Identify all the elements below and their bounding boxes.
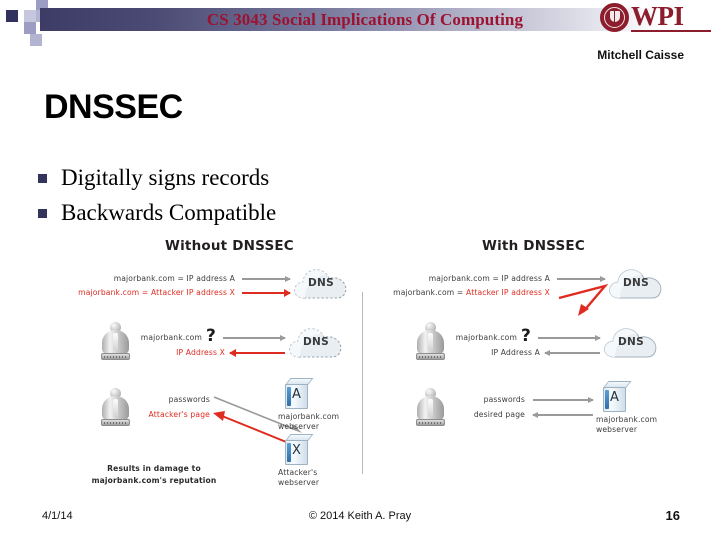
person-keyboard: [416, 419, 445, 426]
dns-cloud-label: DNS: [607, 277, 665, 289]
label-outcome-1: Results in damage to: [74, 464, 234, 473]
label-attacker-webserver-2: webserver: [278, 478, 319, 487]
arrow-red-dns-reply: [230, 352, 285, 354]
list-item: Digitally signs records: [38, 164, 598, 192]
label-query-domain: majorbank.com: [120, 333, 202, 342]
label-reply-ip-a: IP Address A: [435, 348, 540, 357]
list-item: Backwards Compatible: [38, 199, 598, 227]
bullet-marker-icon: [38, 174, 47, 183]
dns-cloud-icon: DNS: [287, 326, 345, 359]
label-passwords: passwords: [130, 395, 210, 404]
presenter-name: Mitchell Caisse: [597, 48, 684, 62]
wpi-underline: [631, 30, 711, 32]
wpi-logo: WPI: [600, 2, 712, 34]
user-person-icon: [415, 388, 445, 428]
person-tie: [113, 399, 118, 417]
label-majorbank-webserver-1: majorbank.com: [278, 412, 339, 421]
footer-page-number: 16: [666, 508, 680, 523]
label-attacker-webserver-1: Attacker's: [278, 468, 317, 477]
panel-divider: [362, 292, 363, 474]
label-majorbank-webserver-2: webserver: [596, 425, 637, 434]
dns-cloud-label: DNS: [292, 277, 350, 289]
server-icon-majorbank: A: [282, 378, 310, 410]
label-passwords: passwords: [445, 395, 525, 404]
decor-square: [6, 10, 18, 22]
panel-heading-without: Without DNSSEC: [165, 238, 294, 254]
user-person-icon: [100, 388, 130, 428]
decor-square: [30, 34, 42, 46]
question-mark: ?: [521, 326, 531, 346]
header-band: CS 3043 Social Implications Of Computing…: [0, 0, 720, 36]
dns-cloud-icon: DNS: [602, 326, 660, 359]
label-attackers-page: Attacker's page: [120, 410, 210, 419]
label-attacker-poison-gray: majorbank.com = IP address A: [60, 274, 235, 283]
bullet-text: Digitally signs records: [61, 164, 269, 192]
wpi-seal-icon: [600, 3, 629, 32]
dns-cloud-label: DNS: [287, 336, 345, 348]
arrow-dns-reply: [545, 352, 600, 354]
person-tie: [428, 399, 433, 417]
dns-cloud-icon: DNS: [607, 267, 665, 300]
dns-cloud-label: DNS: [602, 336, 660, 348]
label-attacker-poison-gray: majorbank.com = IP address A: [375, 274, 550, 283]
wpi-seal-shield: [610, 11, 620, 22]
course-title: CS 3043 Social Implications Of Computing: [130, 9, 600, 31]
page-title: DNSSEC: [44, 88, 183, 127]
server-letter: A: [603, 390, 626, 405]
label-reply-ip-x: IP Address X: [120, 348, 225, 357]
label-attacker-ip-red: Attacker IP address X: [466, 288, 550, 297]
question-mark: ?: [206, 326, 216, 346]
footer-copyright: © 2014 Keith A. Pray: [0, 510, 720, 522]
label-desired-page: desired page: [435, 410, 525, 419]
bullet-text: Backwards Compatible: [61, 199, 276, 227]
panel-heading-with: With DNSSEC: [482, 238, 585, 254]
label-attacker-poison-red: majorbank.com = Attacker IP address X: [60, 288, 235, 297]
arrow-server-to-user: [533, 414, 593, 416]
wpi-wordmark: WPI: [631, 2, 684, 30]
arrow-gray-to-dns-1: [557, 278, 605, 280]
bullet-list: Digitally signs records Backwards Compat…: [38, 164, 598, 234]
arrow-red-to-dns-1: [242, 292, 290, 294]
person-tie: [428, 333, 433, 351]
person-keyboard: [101, 419, 130, 426]
arrow-query-to-dns-2: [538, 337, 600, 339]
dns-cloud-icon: DNS: [292, 267, 350, 300]
server-icon-majorbank: A: [600, 381, 628, 413]
server-letter: A: [285, 387, 308, 402]
person-tie: [113, 333, 118, 351]
label-outcome-2: majorbank.com's reputation: [74, 476, 234, 485]
server-letter: X: [285, 443, 308, 458]
arrow-query-to-dns-2: [223, 337, 285, 339]
slide-canvas: CS 3043 Social Implications Of Computing…: [0, 0, 720, 540]
arrow-gray-to-dns-1: [242, 278, 290, 280]
bullet-marker-icon: [38, 209, 47, 218]
server-icon-attacker: X: [282, 434, 310, 466]
label-majorbank-webserver-1: majorbank.com: [596, 415, 657, 424]
label-majorbank-webserver-2: webserver: [278, 422, 319, 431]
arrow-passwords-to-server: [533, 399, 593, 401]
decor-square: [24, 10, 36, 22]
dnssec-diagram: Without DNSSEC With DNSSEC majorbank.com…: [60, 238, 685, 493]
label-query-domain: majorbank.com: [435, 333, 517, 342]
label-attacker-poison-red: majorbank.com = Attacker IP address X: [375, 288, 550, 297]
decor-square: [0, 0, 6, 36]
decor-square: [24, 22, 36, 34]
